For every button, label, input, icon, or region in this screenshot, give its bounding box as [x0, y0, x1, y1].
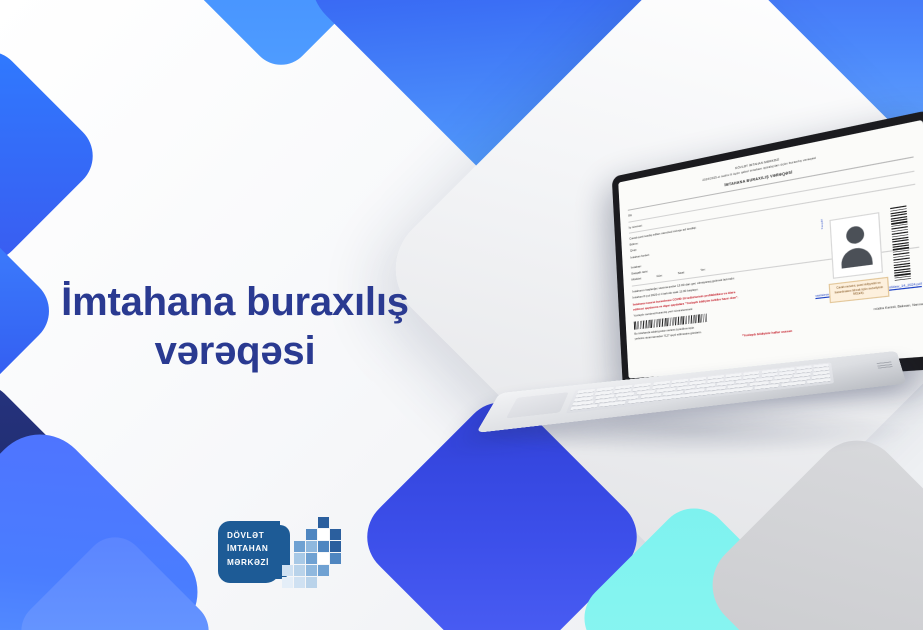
- logo-text: DÖVLƏT İMTAHAN MƏRKƏZİ: [227, 529, 269, 569]
- headline-line-1: İmtahana buraxılış: [61, 280, 409, 324]
- photo-placeholder: Fotoşəkil: [829, 212, 883, 279]
- avatar-icon: [846, 225, 865, 245]
- dim-logo: DÖVLƏT İMTAHAN MƏRKƏZİ: [218, 515, 344, 589]
- column-header: Gün:: [656, 274, 663, 280]
- laptop-mockup: DÖVLƏT İMTAHAN MƏRKƏZİ 2024/2025-ci tədr…: [505, 175, 923, 435]
- logo-line-2: İMTAHAN: [227, 542, 269, 555]
- pixel-mosaic-icon: [280, 515, 344, 589]
- laptop-trackpad[interactable]: [506, 392, 569, 418]
- promo-banner: İmtahana buraxılış vərəqəsi DÖVLƏT İMTAH…: [0, 0, 923, 630]
- logo-line-3: MƏRKƏZİ: [227, 556, 269, 569]
- column-header: Saat:: [678, 271, 685, 277]
- laptop-ports: [877, 361, 894, 370]
- headline-line-2: vərəqəsi: [20, 327, 450, 376]
- column-header: Müddət:: [631, 277, 641, 283]
- rotated-square-left-top-icon: [0, 37, 107, 275]
- column-header: Yer:: [700, 268, 706, 274]
- avatar-body-icon: [841, 246, 873, 269]
- footer-right: müdirə Kərimli, Bakıxan, Nərmə: [873, 302, 923, 317]
- logo-line-1: DÖVLƏT: [227, 529, 269, 542]
- page-title: İmtahana buraxılış vərəqəsi: [20, 278, 450, 376]
- photo-caption: Fotoşəkil: [821, 218, 825, 228]
